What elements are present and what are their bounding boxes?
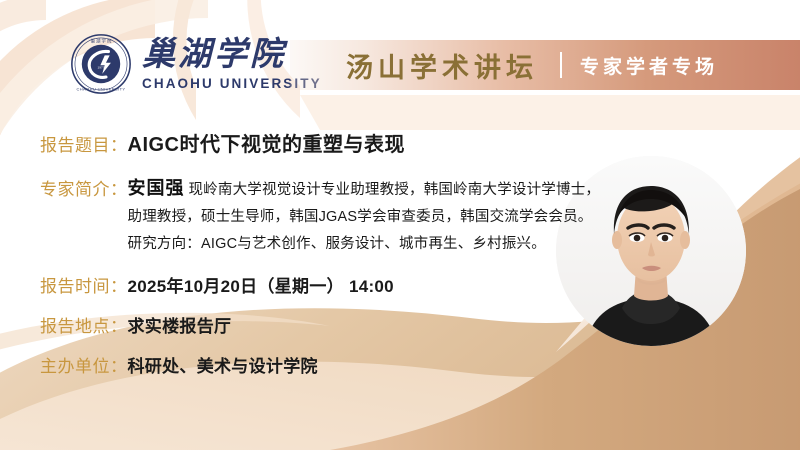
poster-content: 报告题目： AIGC时代下视觉的重塑与表现 专家简介： 安国强现岭南大学视觉设计… xyxy=(0,128,800,392)
svg-text:巢 湖 学 院: 巢 湖 学 院 xyxy=(91,37,112,44)
report-time-label: 报告时间： xyxy=(40,272,128,297)
report-title-value: AIGC时代下视觉的重塑与表现 xyxy=(128,128,406,157)
report-title-label: 报告题目： xyxy=(40,131,128,156)
report-time-value: 2025年10月20日（星期一） 14:00 xyxy=(128,272,394,297)
report-time-row: 报告时间： 2025年10月20日（星期一） 14:00 xyxy=(0,272,800,297)
report-host-label: 主办单位： xyxy=(40,352,128,377)
forum-banner-title: 汤山学术讲坛 xyxy=(346,46,538,85)
bio-line-1: 安国强现岭南大学视觉设计专业助理教授，韩国岭南大学设计学博士， xyxy=(128,175,601,204)
speaker-bio-row: 专家简介： 安国强现岭南大学视觉设计专业助理教授，韩国岭南大学设计学博士， 助理… xyxy=(0,175,800,258)
bio-line-1-rest: 现岭南大学视觉设计专业助理教授，韩国岭南大学设计学博士， xyxy=(189,182,601,198)
report-host-value: 科研处、美术与设计学院 xyxy=(128,352,318,377)
report-place-value: 求实楼报告厅 xyxy=(128,312,232,337)
report-place-row: 报告地点： 求实楼报告厅 xyxy=(0,312,800,337)
bio-line-2: 助理教授，硕士生导师，韩国JGAS学会审查委员，韩国交流学会会员。 xyxy=(128,204,601,231)
chaohu-university-emblem-icon: 巢 湖 学 院 CHAOHU UNIVERSITY 1977 xyxy=(70,33,132,95)
report-title-row: 报告题目： AIGC时代下视觉的重塑与表现 xyxy=(0,128,800,157)
report-host-row: 主办单位： 科研处、美术与设计学院 xyxy=(0,352,800,377)
speaker-bio-label: 专家简介： xyxy=(40,175,128,200)
bio-line-3: 研究方向：AIGC与艺术创作、服务设计、城市再生、乡村振兴。 xyxy=(128,231,601,258)
event-poster: 巢 湖 学 院 CHAOHU UNIVERSITY 1977 巢湖学院 CHAO… xyxy=(0,0,800,450)
svg-text:CHAOHU UNIVERSITY: CHAOHU UNIVERSITY xyxy=(77,87,126,92)
banner-divider xyxy=(560,52,562,78)
forum-banner: 汤山学术讲坛 专家学者专场 xyxy=(290,40,800,90)
speaker-bio-body: 安国强现岭南大学视觉设计专业助理教授，韩国岭南大学设计学博士， 助理教授，硕士生… xyxy=(128,175,601,258)
report-place-label: 报告地点： xyxy=(40,312,128,337)
speaker-name: 安国强 xyxy=(128,178,185,198)
forum-banner-subtitle: 专家学者专场 xyxy=(580,52,718,79)
poster-header: 巢 湖 学 院 CHAOHU UNIVERSITY 1977 巢湖学院 CHAO… xyxy=(0,0,800,120)
event-meta: 报告时间： 2025年10月20日（星期一） 14:00 报告地点： 求实楼报告… xyxy=(0,272,800,377)
svg-text:1977: 1977 xyxy=(98,65,105,69)
university-logo-block: 巢 湖 学 院 CHAOHU UNIVERSITY 1977 巢湖学院 CHAO… xyxy=(70,33,322,95)
